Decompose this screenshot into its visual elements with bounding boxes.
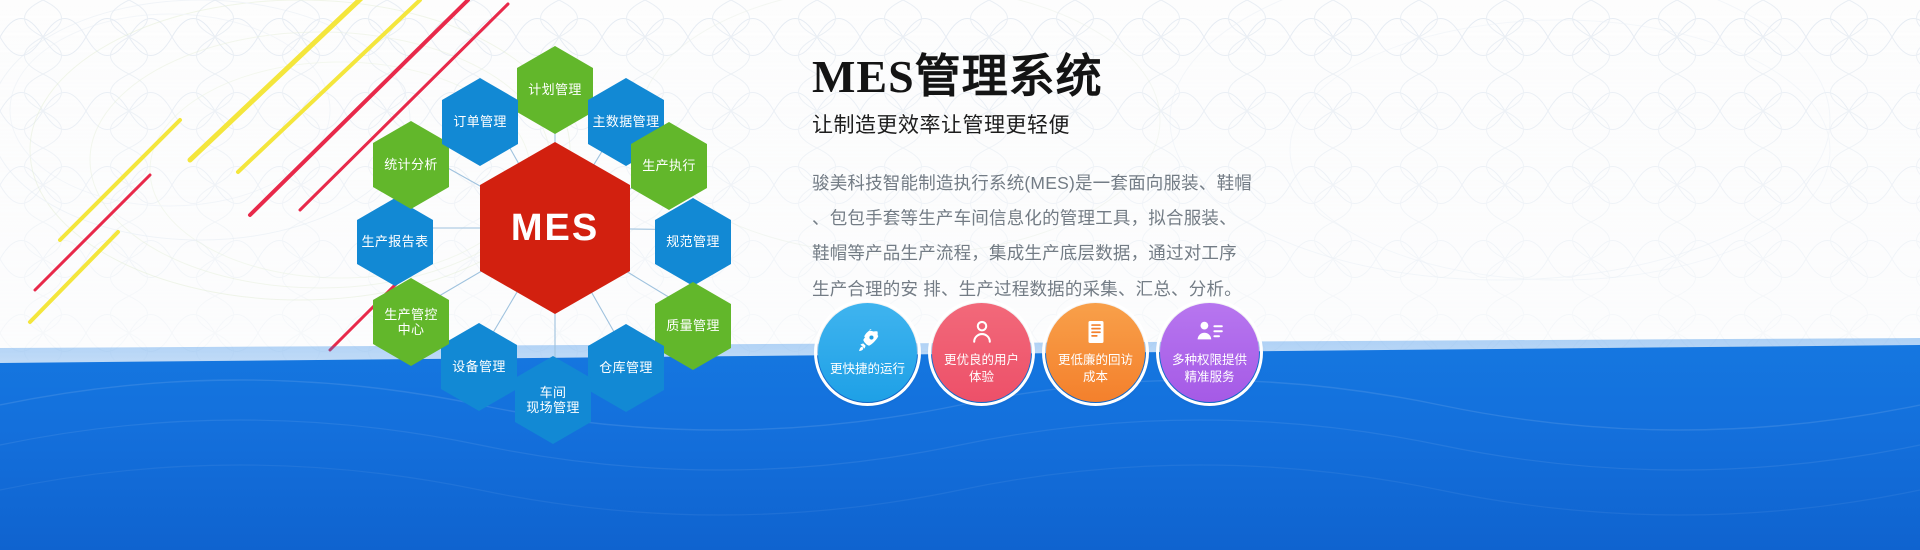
badge-faster-operation[interactable]: 更快捷的运行 — [818, 303, 917, 402]
hex-node-label: 订单管理 — [453, 114, 507, 129]
hex-node-label: 仓库管理 — [599, 360, 653, 375]
hero-banner: 计划管理 主数据管理 生产执行 规范管理 质量管理 仓库管理 车间现场管理 设备… — [0, 0, 1920, 550]
page-title: MES管理系统 — [812, 52, 1292, 102]
badge-ring — [1156, 299, 1263, 406]
badge-ring — [928, 299, 1035, 406]
hero-text-block: MES管理系统 让制造更效率让管理更轻便 骏美科技智能制造执行系统(MES)是一… — [812, 52, 1292, 307]
badge-ring — [1042, 299, 1149, 406]
badge-multi-permission-service[interactable]: 多种权限提供精准服务 — [1160, 303, 1259, 402]
badge-better-user-experience[interactable]: 更优良的用户体验 — [932, 303, 1031, 402]
page-subtitle: 让制造更效率让管理更轻便 — [812, 109, 1292, 139]
hex-node-label: 主数据管理 — [592, 114, 659, 129]
feature-badges: 更快捷的运行 更优良的用户体验 — [818, 303, 1259, 402]
hero-paragraph: 骏美科技智能制造执行系统(MES)是一套面向服装、鞋帽 、包包手套等生产车间信息… — [812, 166, 1292, 307]
paragraph-line: 鞋帽等产品生产流程，集成生产底层数据，通过对工序 — [812, 236, 1292, 271]
hex-node-label: 规范管理 — [666, 234, 720, 249]
paragraph-line: 骏美科技智能制造执行系统(MES)是一套面向服装、鞋帽 — [812, 166, 1292, 201]
hex-node-label: 生产报告表 — [361, 234, 428, 249]
hex-node-label: 生产执行 — [642, 158, 696, 173]
hex-node-label: 设备管理 — [452, 359, 506, 374]
hex-node-label: 车间现场管理 — [526, 385, 580, 416]
hex-center-label: MES — [511, 206, 599, 251]
paragraph-line: 、包包手套等生产车间信息化的管理工具，拟合服装、 — [812, 201, 1292, 236]
mes-hexagon-diagram: 计划管理 主数据管理 生产执行 规范管理 质量管理 仓库管理 车间现场管理 设备… — [330, 18, 780, 438]
badge-lower-followup-cost[interactable]: 更低廉的回访成本 — [1046, 303, 1145, 402]
hex-node-label: 质量管理 — [666, 318, 720, 333]
badge-ring — [814, 299, 921, 406]
hex-node-label: 计划管理 — [528, 82, 582, 97]
hex-node-label: 统计分析 — [384, 157, 438, 172]
hex-node-label: 生产管控中心 — [384, 307, 438, 338]
